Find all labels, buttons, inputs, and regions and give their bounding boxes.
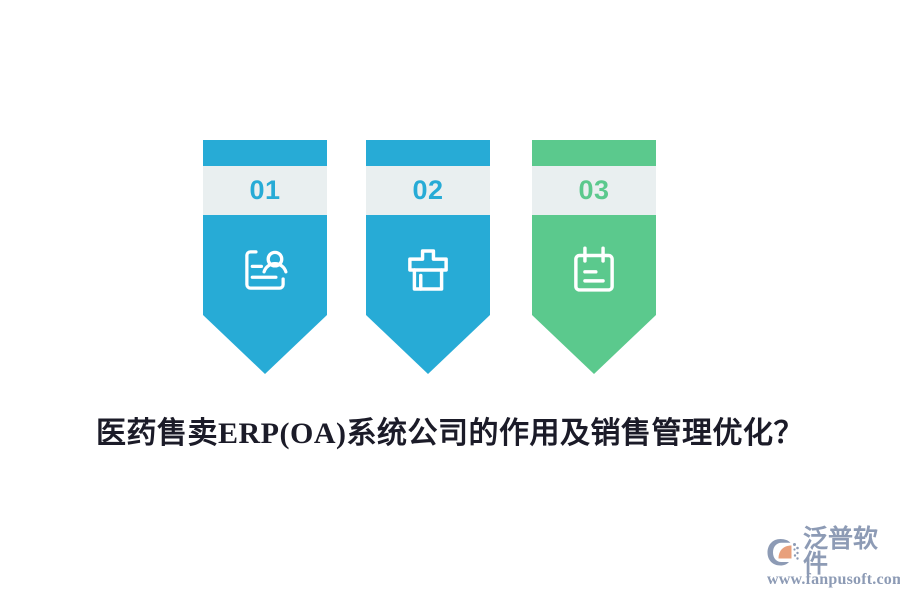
brand-name: 泛普软件 (803, 527, 894, 577)
brand-row: 泛普软件 (766, 535, 894, 569)
brand-watermark: 泛普软件 www.fanpusoft.com (766, 535, 894, 591)
banner-number-band: 01 (203, 166, 327, 215)
banner-number: 02 (412, 177, 443, 204)
banner-item-03[interactable]: 03 (532, 140, 656, 374)
banner-number-band: 03 (532, 166, 656, 215)
id-card-contact-icon (203, 235, 327, 305)
banner-number: 01 (249, 177, 280, 204)
fanpu-logo-icon (766, 536, 800, 568)
banner-item-01[interactable]: 01 (203, 140, 327, 374)
brand-url: www.fanpusoft.com (766, 572, 894, 588)
banner-number-band: 02 (366, 166, 490, 215)
page-title: 医药售卖ERP(OA)系统公司的作用及销售管理优化？ (0, 408, 900, 452)
banner-item-02[interactable]: 02 (366, 140, 490, 374)
hospital-clinic-icon (366, 235, 490, 305)
banner-number: 03 (578, 177, 609, 204)
notepad-checklist-icon (532, 235, 656, 305)
banner-group: 01 02 (0, 140, 900, 380)
poster-canvas: 01 02 (0, 0, 900, 600)
